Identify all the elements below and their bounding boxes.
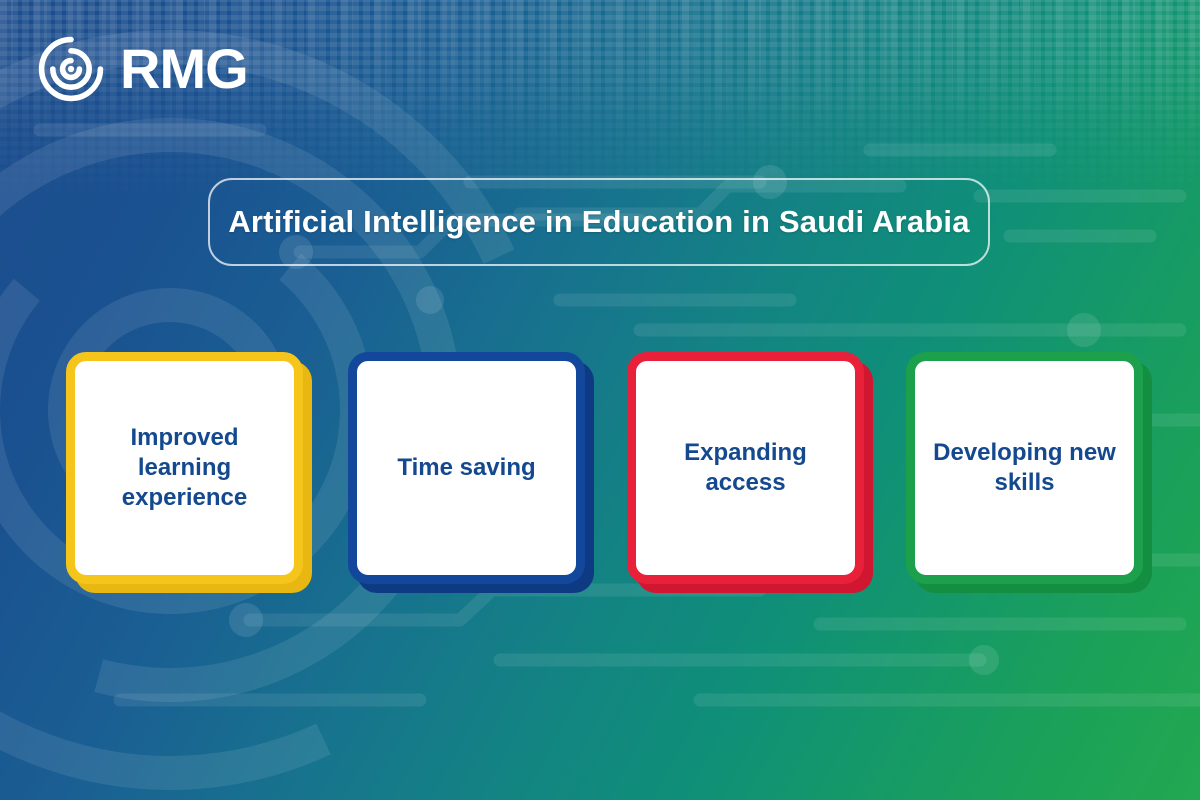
benefit-card-label: Expanding access [650,438,841,498]
benefit-card-time-saving[interactable]: Time saving [348,352,585,584]
benefit-card-slot-4: Developing new skills [906,352,1143,584]
page-title: Artificial Intelligence in Education in … [228,204,969,240]
infographic-canvas: RMG Artificial Intelligence in Education… [0,0,1200,800]
benefit-card-label: Time saving [397,453,535,483]
benefit-card-row: Improved learning experience Time saving… [66,352,1140,587]
page-title-container: Artificial Intelligence in Education in … [208,178,990,266]
rmg-logo[interactable]: RMG [36,34,248,104]
benefit-card-slot-1: Improved learning experience [66,352,303,584]
benefit-card-slot-2: Time saving [348,352,585,584]
benefit-card-label: Improved learning experience [89,423,280,512]
benefit-card-improved-learning-experience[interactable]: Improved learning experience [66,352,303,584]
rmg-wordmark: RMG [120,41,248,97]
benefit-card-label: Developing new skills [929,438,1120,498]
benefit-card-expanding-access[interactable]: Expanding access [627,352,864,584]
benefit-card-developing-new-skills[interactable]: Developing new skills [906,352,1143,584]
rmg-spiral-logo-icon [36,34,106,104]
benefit-card-slot-3: Expanding access [627,352,864,584]
